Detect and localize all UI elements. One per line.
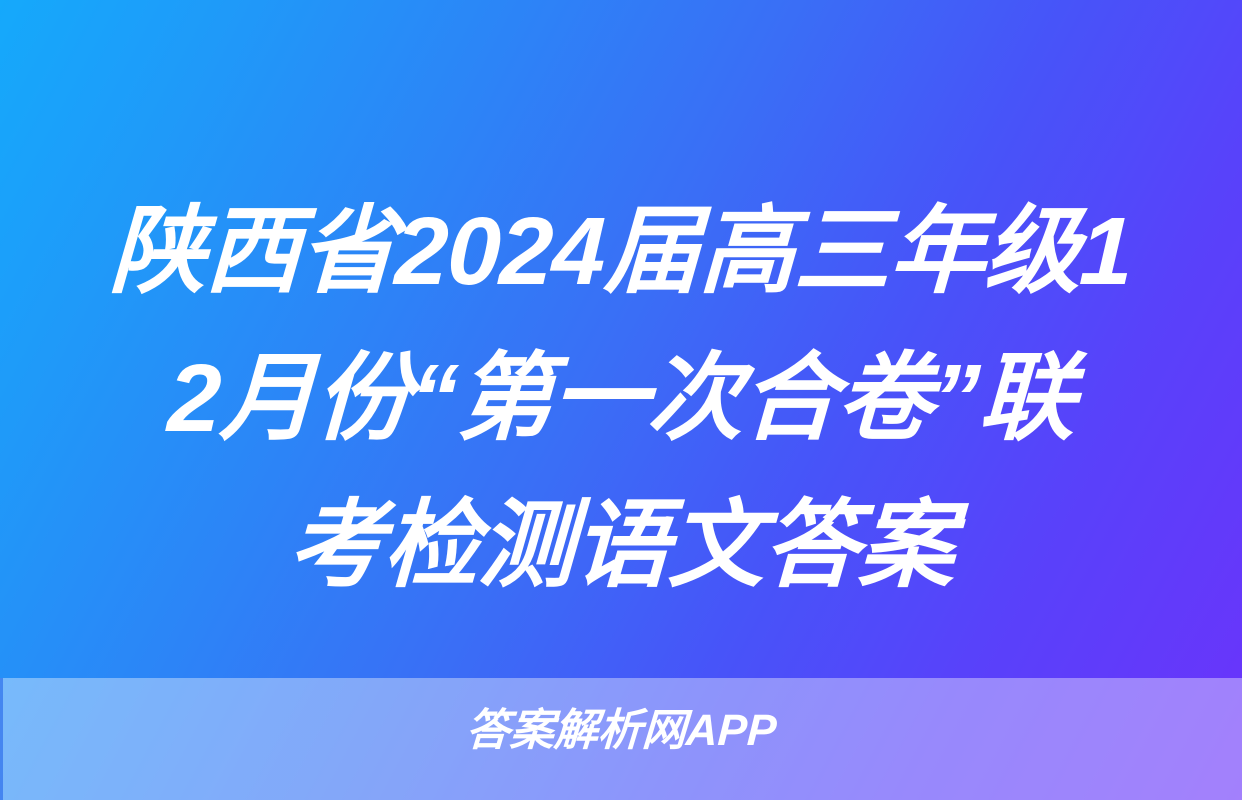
title-card: 陕西省2024届高三年级1 2月份“第一次合卷”联 考检测语文答案 答案解析网A… — [0, 0, 1242, 800]
watermark-label: 答案解析网APP — [464, 703, 777, 759]
title-line-3: 考检测语文答案 — [3, 472, 1238, 619]
title-line-2: 2月份“第一次合卷”联 — [3, 325, 1238, 472]
watermark: 答案解析网APP — [0, 703, 1242, 759]
page-title: 陕西省2024届高三年级1 2月份“第一次合卷”联 考检测语文答案 — [0, 178, 1242, 619]
title-line-1: 陕西省2024届高三年级1 — [3, 178, 1238, 325]
